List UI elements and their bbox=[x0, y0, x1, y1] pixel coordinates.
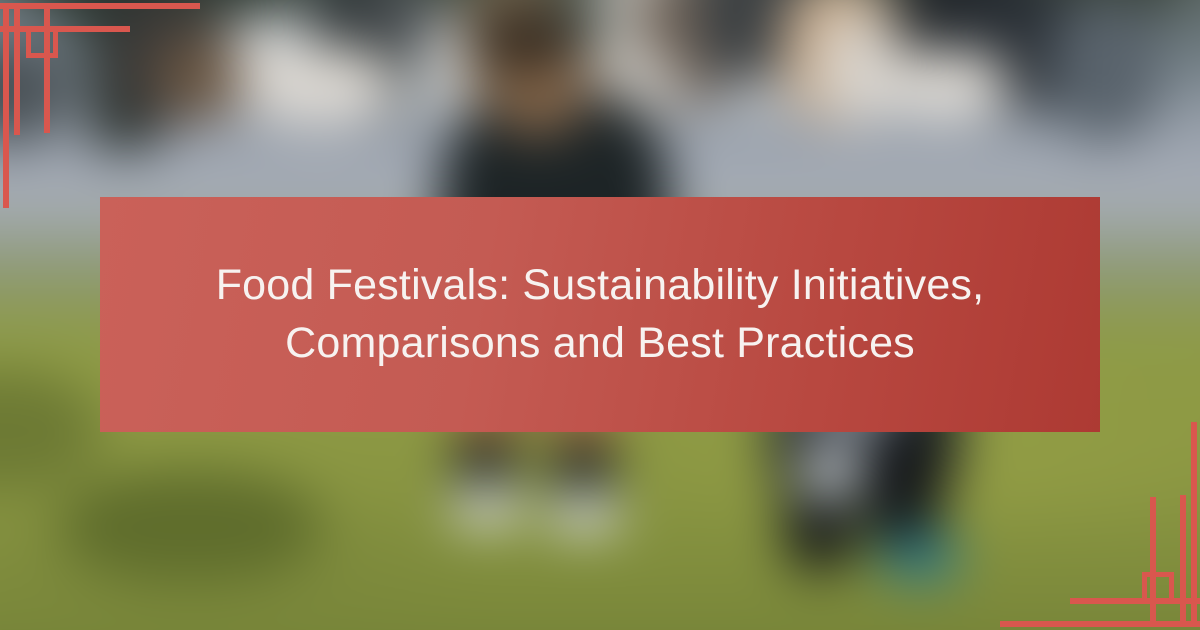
page-title: Food Festivals: Sustainability Initiativ… bbox=[205, 257, 995, 371]
share-card: Food Festivals: Sustainability Initiativ… bbox=[0, 0, 1200, 630]
title-banner: Food Festivals: Sustainability Initiativ… bbox=[100, 197, 1100, 432]
